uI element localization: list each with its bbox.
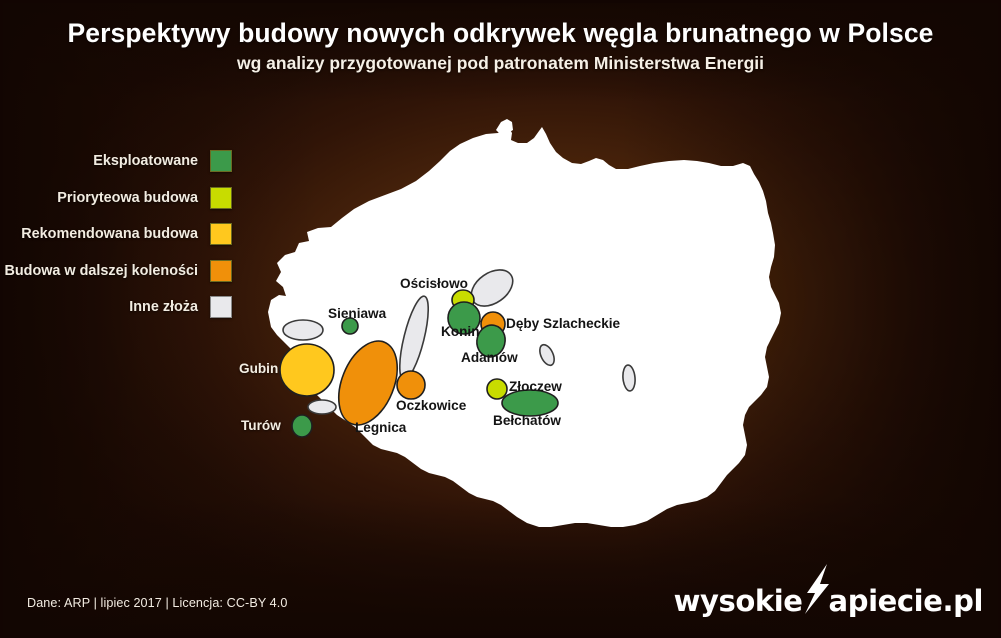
deposit-label-o-cis-owo: Ościsłowo: [400, 277, 468, 291]
page-title: Perspektywy budowy nowych odkrywek węgla…: [0, 18, 1001, 49]
legend-item-recommended[interactable]: Rekomendowana budowa: [0, 221, 246, 247]
deposit-label-sieniawa: Sieniawa: [328, 307, 386, 321]
page-subtitle: wg analizy przygotowanej pod patronatem …: [0, 53, 1001, 74]
legend: EksploatowanePrioryteowa budowaRekomendo…: [0, 148, 246, 331]
lightning-bolt-icon: [801, 573, 831, 611]
logo-text-left: wysokie: [674, 587, 803, 616]
deposit-label-adam-w: Adamów: [461, 351, 518, 365]
deposit-label-be-chat-w: Bełchatów: [493, 414, 561, 428]
deposit-label-oczkowice: Oczkowice: [396, 399, 466, 413]
legend-swatch-priority: [210, 187, 232, 209]
legend-item-label: Prioryteowa budowa: [57, 190, 198, 206]
infographic-canvas: GubinTurówSieniawaLegnicaOczkowiceOścisł…: [0, 0, 1001, 638]
deposit-gubin[interactable]: [280, 344, 334, 396]
deposit-label-z-oczew: Złoczew: [509, 380, 562, 394]
legend-item-later[interactable]: Budowa w dalszej koleności: [0, 258, 246, 284]
legend-swatch-later: [210, 260, 232, 282]
deposit-label-legnica: Legnica: [355, 421, 406, 435]
header: Perspektywy budowy nowych odkrywek węgla…: [0, 18, 1001, 74]
deposit-tur-w[interactable]: [292, 415, 312, 437]
legend-swatch-other: [210, 296, 232, 318]
legend-swatch-exploited: [210, 150, 232, 172]
wysokienapiecie-logo[interactable]: wysokie apiecie.pl: [674, 573, 983, 616]
footer-credits: Dane: ARP | lipiec 2017 | Licencja: CC-B…: [27, 596, 288, 610]
legend-item-label: Rekomendowana budowa: [21, 226, 198, 242]
other-deposit-1[interactable]: [308, 400, 336, 414]
deposit-label-gubin: Gubin: [239, 362, 278, 376]
deposit-label-tur-w: Turów: [241, 419, 281, 433]
deposit-label-konin: Konin: [441, 325, 480, 339]
legend-item-label: Inne złoża: [129, 299, 198, 315]
deposit-label-d-by-szlacheckie: Dęby Szlacheckie: [506, 317, 620, 331]
other-deposit-0[interactable]: [283, 320, 323, 340]
logo-text-right: apiecie.pl: [829, 587, 983, 616]
legend-item-priority[interactable]: Prioryteowa budowa: [0, 185, 246, 211]
deposit-z-oczew[interactable]: [487, 379, 507, 399]
legend-item-other[interactable]: Inne złoża: [0, 294, 246, 320]
legend-swatch-recommended: [210, 223, 232, 245]
legend-item-exploited[interactable]: Eksploatowane: [0, 148, 246, 174]
legend-item-label: Eksploatowane: [93, 153, 198, 169]
deposit-oczkowice[interactable]: [397, 371, 425, 399]
legend-item-label: Budowa w dalszej koleności: [4, 263, 198, 279]
